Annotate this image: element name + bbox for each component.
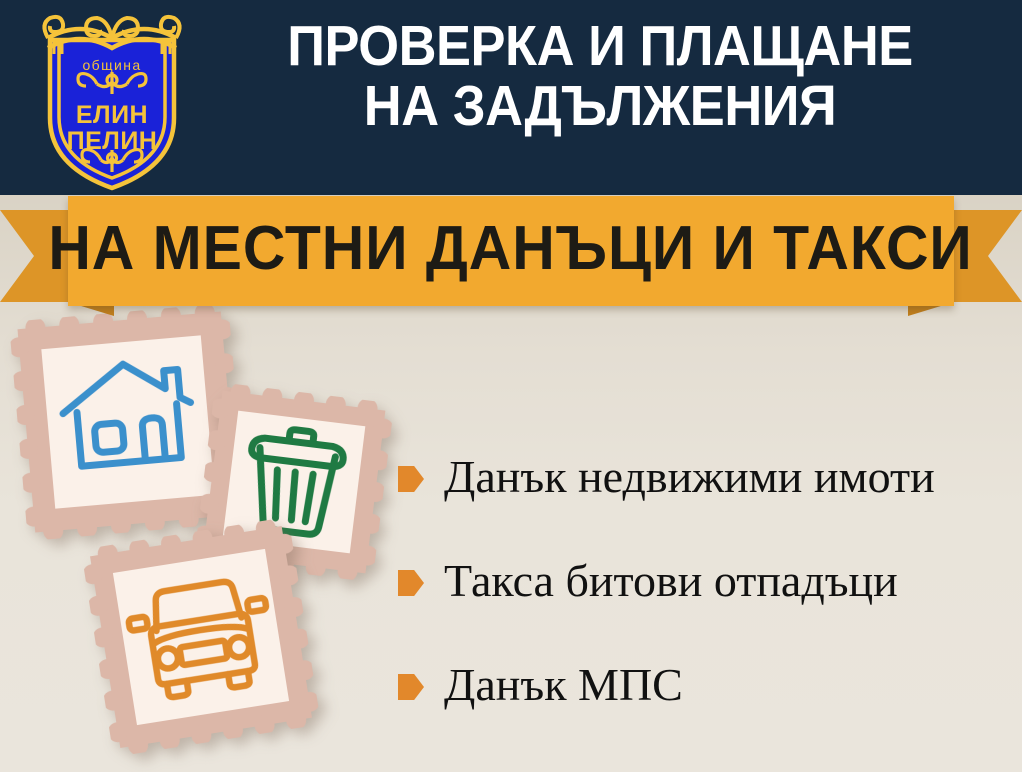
list-item-label: Данък недвижими имоти bbox=[444, 452, 935, 502]
emblem-line1: община bbox=[82, 57, 141, 73]
ribbon-main-band: НА МЕСТНИ ДАНЪЦИ И ТАКСИ bbox=[68, 196, 954, 306]
header-bar: община ЕЛИН ПЕЛИН bbox=[0, 0, 1022, 195]
coat-of-arms-icon: община ЕЛИН ПЕЛИН bbox=[34, 6, 190, 192]
emblem-line2: ЕЛИН bbox=[76, 101, 148, 129]
poster-root: община ЕЛИН ПЕЛИН bbox=[0, 0, 1022, 772]
stamp-card-car bbox=[81, 517, 321, 757]
list-item[interactable]: Данък МПС bbox=[398, 633, 1018, 737]
list-item-label: Данък МПС bbox=[444, 660, 683, 710]
page-title: ПРОВЕРКА И ПЛАЩАНЕ НА ЗАДЪЛЖЕНИЯ bbox=[223, 16, 977, 136]
ribbon-label: НА МЕСТНИ ДАНЪЦИ И ТАКСИ bbox=[49, 218, 973, 284]
ribbon-banner: НА МЕСТНИ ДАНЪЦИ И ТАКСИ bbox=[0, 196, 1022, 314]
bullet-arrow-icon bbox=[398, 570, 424, 596]
emblem: община ЕЛИН ПЕЛИН bbox=[34, 6, 190, 192]
list-item[interactable]: Такса битови отпадъци bbox=[398, 529, 1018, 633]
tax-type-list: Данък недвижими имоти Такса битови отпад… bbox=[398, 425, 1018, 737]
list-item-label: Такса битови отпадъци bbox=[444, 556, 898, 606]
stamp-card-group bbox=[0, 300, 430, 772]
bullet-arrow-icon bbox=[398, 466, 424, 492]
bullet-arrow-icon bbox=[398, 674, 424, 700]
list-item[interactable]: Данък недвижими имоти bbox=[398, 425, 1018, 529]
